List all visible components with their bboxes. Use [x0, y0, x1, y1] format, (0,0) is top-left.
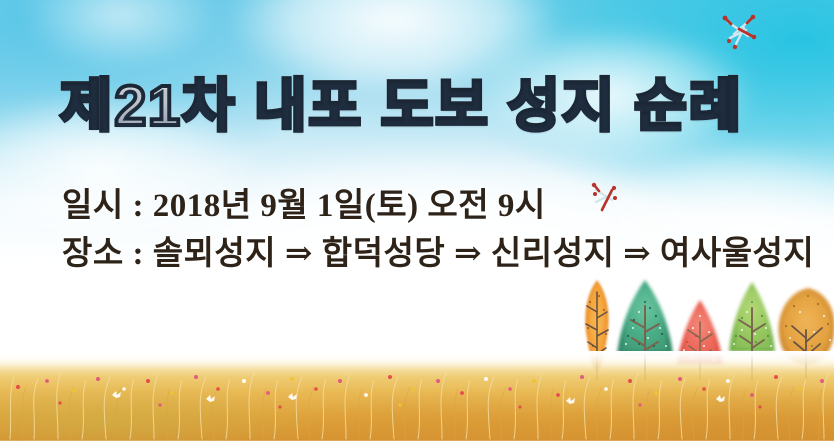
pilgrimage-poster: 제21차 내포 도보 성지 순례 일시 : 2018년 9월 1일(토) 오전 …: [0, 0, 834, 441]
dragonfly-mid-right-icon: [584, 176, 630, 220]
grass-field: [0, 351, 834, 441]
page-title: 제21차 내포 도보 성지 순례: [60, 78, 743, 135]
dragonfly-top-right-icon: [714, 10, 766, 58]
grass-top-fade: [0, 351, 834, 377]
route-line: 장소 : 솔뫼성지 ⇒ 합덕성당 ⇒ 신리성지 ⇒ 여사울성지: [62, 226, 814, 274]
schedule-line: 일시 : 2018년 9월 1일(토) 오전 9시: [62, 178, 546, 226]
page-title-text: 제21차 내포 도보 성지 순례: [60, 74, 743, 138]
